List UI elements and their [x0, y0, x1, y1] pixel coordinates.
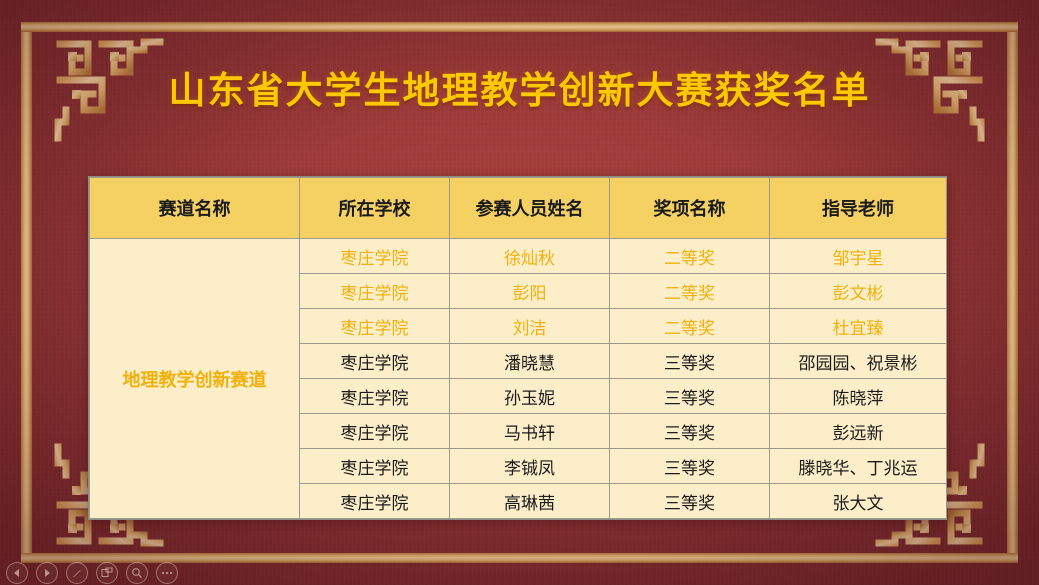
slideshow-toolbar[interactable] — [0, 561, 1039, 585]
pen-icon — [71, 567, 83, 579]
cell-participant: 李铖凤 — [450, 449, 610, 484]
ellipsis-icon — [161, 571, 173, 575]
pen-tool-button[interactable] — [66, 562, 88, 584]
cell-advisor: 邵园园、祝景彬 — [770, 344, 947, 379]
cell-award: 三等奖 — [610, 414, 770, 449]
cell-award: 三等奖 — [610, 449, 770, 484]
cell-award: 二等奖 — [610, 274, 770, 309]
column-header-participant: 参赛人员姓名 — [450, 178, 610, 239]
presentation-slide: 山东省大学生地理教学创新大赛获奖名单 赛道名称 所在学校 参赛人员姓名 奖项名称… — [0, 0, 1039, 585]
cell-participant: 马书轩 — [450, 414, 610, 449]
zoom-button[interactable] — [126, 562, 148, 584]
cell-advisor: 陈晓萍 — [770, 379, 947, 414]
cell-award: 二等奖 — [610, 239, 770, 274]
cell-school: 枣庄学院 — [300, 449, 450, 484]
cell-participant: 徐灿秋 — [450, 239, 610, 274]
cell-school: 枣庄学院 — [300, 274, 450, 309]
triangle-left-icon — [13, 569, 21, 577]
award-table-container: 赛道名称 所在学校 参赛人员姓名 奖项名称 指导老师 地理教学创新赛道枣庄学院徐… — [88, 176, 947, 520]
column-header-track: 赛道名称 — [90, 178, 300, 239]
cell-award: 三等奖 — [610, 344, 770, 379]
cell-award: 三等奖 — [610, 379, 770, 414]
cell-school: 枣庄学院 — [300, 414, 450, 449]
cell-participant: 潘晓慧 — [450, 344, 610, 379]
cell-track-name: 地理教学创新赛道 — [90, 239, 300, 519]
table-row: 地理教学创新赛道枣庄学院徐灿秋二等奖邹宇星 — [90, 239, 947, 274]
magnifier-icon — [131, 567, 143, 579]
cell-advisor: 邹宇星 — [770, 239, 947, 274]
triangle-right-icon — [43, 569, 51, 577]
cell-school: 枣庄学院 — [300, 344, 450, 379]
cell-advisor: 彭文彬 — [770, 274, 947, 309]
award-table: 赛道名称 所在学校 参赛人员姓名 奖项名称 指导老师 地理教学创新赛道枣庄学院徐… — [89, 177, 947, 519]
cell-school: 枣庄学院 — [300, 379, 450, 414]
cell-participant: 刘洁 — [450, 309, 610, 344]
grid-slides-icon — [101, 567, 113, 579]
cell-advisor: 彭远新 — [770, 414, 947, 449]
frame-line-top — [21, 22, 1018, 32]
cell-advisor: 张大文 — [770, 484, 947, 519]
slide-overview-button[interactable] — [96, 562, 118, 584]
cell-participant: 孙玉妮 — [450, 379, 610, 414]
cell-school: 枣庄学院 — [300, 309, 450, 344]
cell-award: 二等奖 — [610, 309, 770, 344]
cell-participant: 彭阳 — [450, 274, 610, 309]
cell-advisor: 杜宜臻 — [770, 309, 947, 344]
award-table-body: 地理教学创新赛道枣庄学院徐灿秋二等奖邹宇星枣庄学院彭阳二等奖彭文彬枣庄学院刘洁二… — [90, 239, 947, 519]
previous-slide-button[interactable] — [6, 562, 28, 584]
column-header-school: 所在学校 — [300, 178, 450, 239]
cell-school: 枣庄学院 — [300, 239, 450, 274]
award-table-head: 赛道名称 所在学校 参赛人员姓名 奖项名称 指导老师 — [90, 178, 947, 239]
column-header-award: 奖项名称 — [610, 178, 770, 239]
next-slide-button[interactable] — [36, 562, 58, 584]
cell-participant: 高琳茜 — [450, 484, 610, 519]
more-options-button[interactable] — [156, 562, 178, 584]
table-header-row: 赛道名称 所在学校 参赛人员姓名 奖项名称 指导老师 — [90, 178, 947, 239]
column-header-advisor: 指导老师 — [770, 178, 947, 239]
cell-award: 三等奖 — [610, 484, 770, 519]
cell-school: 枣庄学院 — [300, 484, 450, 519]
slide-title: 山东省大学生地理教学创新大赛获奖名单 — [0, 60, 1039, 114]
cell-advisor: 滕晓华、丁兆运 — [770, 449, 947, 484]
